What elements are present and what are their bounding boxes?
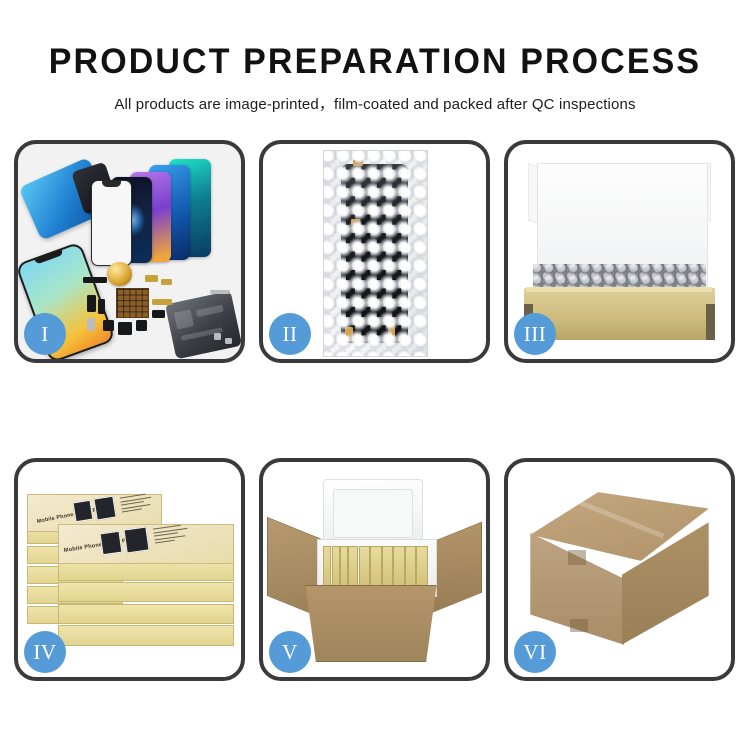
product-preparation-poster: PRODUCT PREPARATION PROCESS All products…	[0, 0, 750, 750]
process-step-3[interactable]: III	[504, 140, 735, 363]
step-badge-6: VI	[514, 631, 556, 673]
step-badge-2: II	[269, 313, 311, 355]
stacked-box	[58, 604, 234, 624]
part-icon	[98, 299, 105, 314]
process-step-4[interactable]: Mobile Phone Spare Parts Mobile Phone Sp…	[14, 458, 245, 681]
screw-icon	[214, 333, 221, 339]
step-badge-4: IV	[24, 631, 66, 673]
step-badge-5: V	[269, 631, 311, 673]
phone-back-housing-icon	[165, 290, 241, 359]
part-icon	[87, 318, 95, 331]
yellow-boxes-inside	[323, 546, 428, 587]
header: PRODUCT PREPARATION PROCESS All products…	[0, 0, 750, 114]
part-icon	[118, 322, 131, 335]
screw-icon	[225, 338, 232, 344]
step-badge-3: III	[514, 313, 556, 355]
page-title: PRODUCT PREPARATION PROCESS	[11, 44, 739, 79]
box-print-image	[124, 526, 150, 553]
phone-glass-icon	[91, 180, 132, 267]
styrofoam-lid	[323, 479, 423, 548]
part-icon	[103, 320, 114, 331]
process-step-1[interactable]: I	[14, 140, 245, 363]
page-subtitle: All products are image-printed，film-coat…	[0, 93, 750, 114]
part-icon	[136, 320, 147, 331]
coil-component-icon	[107, 262, 132, 286]
box-corner	[706, 304, 716, 340]
box-stack: Mobile Phone Spare Parts Mobile Phone Sp…	[27, 479, 232, 660]
part-icon	[161, 279, 172, 284]
carton-body	[305, 585, 436, 662]
bubble-wrap-bag	[323, 150, 428, 356]
box-print-image	[73, 500, 94, 523]
part-icon	[145, 275, 158, 281]
part-icon	[152, 310, 165, 319]
phone-screen-fan	[116, 161, 241, 264]
box-print-image	[93, 496, 117, 521]
stacked-box	[58, 582, 234, 602]
chip-array-icon	[116, 288, 149, 318]
process-step-grid: I II	[14, 140, 736, 681]
stacked-box	[58, 625, 234, 645]
process-step-5[interactable]: V	[259, 458, 490, 681]
part-icon	[83, 277, 108, 282]
part-icon	[152, 299, 172, 305]
step-badge-1: I	[24, 313, 66, 355]
carton-tape	[568, 550, 586, 565]
carton-tape	[570, 619, 588, 632]
part-icon	[87, 295, 96, 312]
screwdriver-icon	[210, 290, 230, 294]
box-print-image	[99, 530, 122, 554]
process-step-6[interactable]: VI	[504, 458, 735, 681]
process-step-2[interactable]: II	[259, 140, 490, 363]
bubble-texture	[324, 151, 427, 355]
